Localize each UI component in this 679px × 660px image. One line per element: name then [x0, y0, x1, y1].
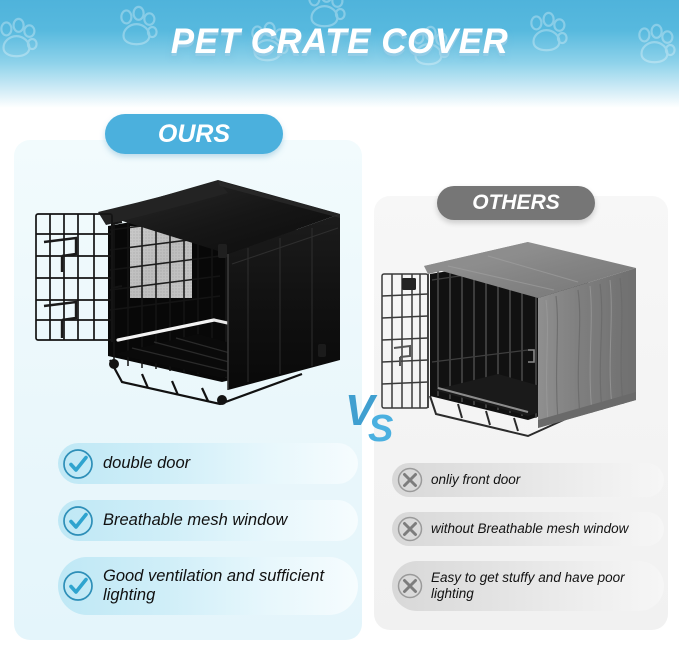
others-product-image	[378, 238, 664, 444]
others-feature-label: onliy front door	[431, 472, 520, 488]
ours-badge-label: OURS	[158, 120, 230, 149]
others-feature-label: without Breathable mesh window	[431, 521, 628, 537]
check-circle-icon	[61, 569, 95, 603]
ours-feature-item: Good ventilation and sufficient lighting	[58, 557, 358, 615]
ours-badge: OURS	[105, 114, 283, 154]
vs-letter-s: S	[368, 408, 393, 447]
check-circle-icon	[61, 447, 95, 481]
page-title: PET CRATE COVER	[0, 22, 679, 62]
ours-feature-label: double door	[103, 454, 190, 473]
cross-circle-icon	[396, 466, 424, 494]
others-badge: OTHERS	[437, 186, 595, 220]
ours-feature-label: Breathable mesh window	[103, 511, 287, 530]
cross-circle-icon	[396, 572, 424, 600]
infographic-root: PET CRATE COVER	[0, 0, 679, 660]
check-circle-icon	[61, 504, 95, 538]
ours-feature-item: double door	[58, 443, 358, 484]
others-feature-label: Easy to get stuffy and have poor lightin…	[431, 570, 664, 602]
others-feature-item: Easy to get stuffy and have poor lightin…	[392, 561, 664, 611]
ours-product-image	[22, 168, 354, 416]
ours-feature-label: Good ventilation and sufficient lighting	[103, 567, 358, 606]
ours-feature-item: Breathable mesh window	[58, 500, 358, 541]
header-banner: PET CRATE COVER	[0, 0, 679, 108]
others-feature-item: onliy front door	[392, 463, 664, 497]
vs-divider: V S	[345, 385, 407, 447]
others-feature-item: without Breathable mesh window	[392, 512, 664, 546]
cross-circle-icon	[396, 515, 424, 543]
others-badge-label: OTHERS	[472, 191, 560, 215]
